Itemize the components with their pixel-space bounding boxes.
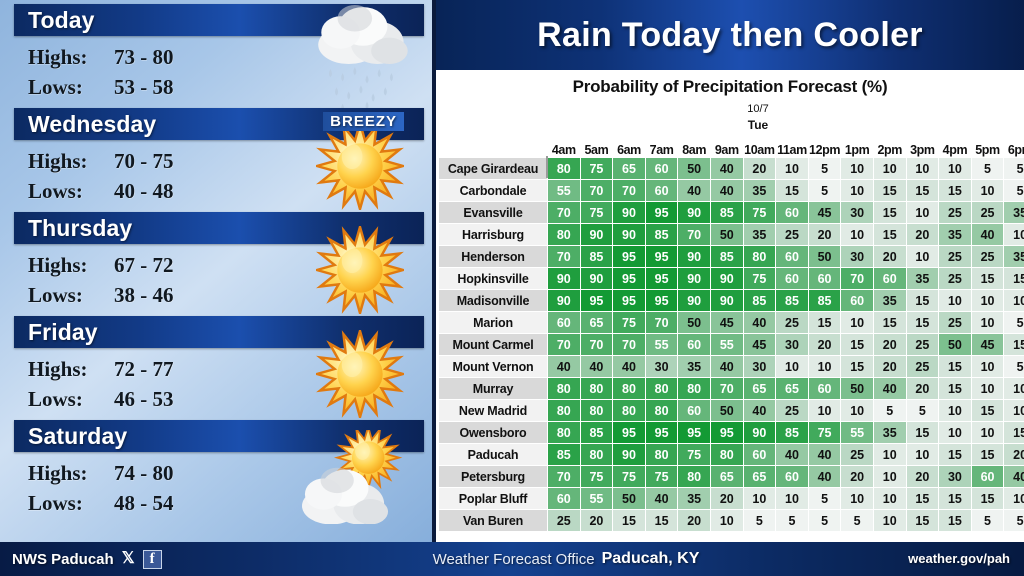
- pop-cell: 75: [808, 422, 841, 444]
- pop-cell: 50: [808, 246, 841, 268]
- lows-row: Lows:40 - 48: [28, 176, 428, 206]
- pop-cell: 10: [808, 400, 841, 422]
- weather-graphic: TodayHighs:73 - 80Lows:53 - 58WednesdayB…: [0, 0, 1024, 576]
- pop-cell: 15: [841, 356, 874, 378]
- pop-cell: 95: [613, 268, 646, 290]
- hour-header-9am: 9am: [710, 136, 743, 158]
- highs-label: Highs:: [28, 458, 114, 488]
- pop-cell: 90: [678, 268, 711, 290]
- pop-cell: 50: [710, 400, 743, 422]
- table-row: Harrisburg809090857050352520101520354010: [439, 224, 1024, 246]
- city-name-cell: Carbondale: [439, 180, 548, 202]
- pop-cell: 15: [906, 510, 939, 532]
- headline-bar: Rain Today then Cooler: [436, 0, 1024, 70]
- pop-cell: 40: [678, 180, 711, 202]
- forecast-day-friday: FridayHighs:72 - 77Lows:46 - 53: [8, 316, 428, 420]
- city-name-cell: Poplar Bluff: [439, 488, 548, 510]
- pop-cell: 10: [808, 356, 841, 378]
- pop-cell: 50: [710, 224, 743, 246]
- pop-cell: 30: [645, 356, 678, 378]
- pop-cell: 55: [645, 334, 678, 356]
- temperature-block: Highs:70 - 75Lows:40 - 48: [8, 140, 428, 206]
- day-name-label: Thursday: [14, 215, 132, 242]
- pop-cell: 70: [580, 334, 613, 356]
- pop-cell: 25: [548, 510, 581, 532]
- pop-cell: 80: [580, 400, 613, 422]
- pop-cell: 60: [841, 290, 874, 312]
- pop-cell: 10: [873, 466, 906, 488]
- city-name-cell: Madisonville: [439, 290, 548, 312]
- pop-table-wrap: Probability of Precipitation Forecast (%…: [436, 70, 1024, 542]
- pop-cell: 10: [1004, 378, 1024, 400]
- pop-cell: 75: [743, 202, 776, 224]
- table-row: Murray808080808070656560504020151010: [439, 378, 1024, 400]
- city-name-cell: Owensboro: [439, 422, 548, 444]
- pop-cell: 15: [873, 312, 906, 334]
- pop-cell: 15: [971, 488, 1004, 510]
- pop-cell: 5: [808, 158, 841, 180]
- table-row: Van Buren252015152010555510151555: [439, 510, 1024, 532]
- table-row: Mount Vernon4040403035403010101520251510…: [439, 356, 1024, 378]
- pop-cell: 90: [613, 444, 646, 466]
- pop-cell: 10: [776, 356, 809, 378]
- pop-cell: 80: [580, 378, 613, 400]
- pop-cell: 25: [776, 224, 809, 246]
- pop-cell: 75: [613, 312, 646, 334]
- table-row: Petersburg707575758065656040201020306040: [439, 466, 1024, 488]
- city-name-cell: Paducah: [439, 444, 548, 466]
- pop-cell: 70: [548, 466, 581, 488]
- pop-cell: 80: [548, 378, 581, 400]
- pop-cell: 50: [678, 158, 711, 180]
- pop-cell: 90: [580, 268, 613, 290]
- pop-cell: 15: [906, 312, 939, 334]
- pop-cell: 60: [645, 158, 678, 180]
- pop-cell: 5: [808, 180, 841, 202]
- pop-cell: 60: [808, 378, 841, 400]
- pop-cell: 15: [1004, 422, 1024, 444]
- highs-row: Highs:73 - 80: [28, 42, 428, 72]
- pop-cell: 95: [678, 422, 711, 444]
- pop-cell: 70: [613, 180, 646, 202]
- pop-cell: 70: [548, 246, 581, 268]
- pop-cell: 25: [939, 268, 972, 290]
- pop-cell: 50: [841, 378, 874, 400]
- pop-cell: 5: [1004, 510, 1024, 532]
- pop-cell: 65: [613, 158, 646, 180]
- highs-label: Highs:: [28, 250, 114, 280]
- pop-cell: 10: [939, 422, 972, 444]
- pop-cell: 25: [971, 202, 1004, 224]
- pop-cell: 50: [678, 312, 711, 334]
- lows-value: 53 - 58: [114, 72, 174, 102]
- day-name-bar: Thursday: [14, 212, 424, 244]
- pop-cell: 35: [873, 290, 906, 312]
- pop-cell: 40: [808, 444, 841, 466]
- pop-table-body: Cape Girardeau80756560504020105101010105…: [439, 158, 1024, 532]
- pop-cell: 25: [776, 312, 809, 334]
- pop-cell: 80: [613, 378, 646, 400]
- pop-cell: 35: [906, 268, 939, 290]
- pop-cell: 95: [645, 422, 678, 444]
- pop-cell: 10: [743, 488, 776, 510]
- day-name-label: Saturday: [14, 423, 127, 450]
- pop-cell: 20: [580, 510, 613, 532]
- hour-header-4am: 4am: [548, 136, 581, 158]
- pop-cell: 10: [939, 158, 972, 180]
- pop-cell: 20: [841, 466, 874, 488]
- city-name-cell: New Madrid: [439, 400, 548, 422]
- pop-cell: 5: [1004, 180, 1024, 202]
- day-name-label: Wednesday: [14, 111, 156, 138]
- pop-cell: 35: [873, 422, 906, 444]
- pop-cell: 90: [743, 422, 776, 444]
- pop-cell: 10: [873, 158, 906, 180]
- table-row: Marion60657570504540251510151525105: [439, 312, 1024, 334]
- pop-cell: 10: [841, 180, 874, 202]
- pop-cell: 60: [645, 180, 678, 202]
- pop-cell: 10: [971, 422, 1004, 444]
- table-row: Poplar Bluff6055504035201010510101515151…: [439, 488, 1024, 510]
- pop-cell: 45: [971, 334, 1004, 356]
- pop-cell: 10: [906, 202, 939, 224]
- forecast-day-today: TodayHighs:73 - 80Lows:53 - 58: [8, 4, 428, 108]
- pop-cell: 55: [710, 334, 743, 356]
- pop-cell: 50: [613, 488, 646, 510]
- pop-cell: 25: [841, 444, 874, 466]
- pop-cell: 10: [710, 510, 743, 532]
- footer-website[interactable]: weather.gov/pah: [908, 551, 1010, 566]
- pop-cell: 15: [939, 510, 972, 532]
- pop-cell: 5: [808, 510, 841, 532]
- pop-cell: 70: [548, 334, 581, 356]
- pop-cell: 10: [971, 290, 1004, 312]
- pop-cell: 80: [678, 378, 711, 400]
- pop-cell: 5: [743, 510, 776, 532]
- table-row: Owensboro808595959595908575553515101015: [439, 422, 1024, 444]
- pop-cell: 45: [710, 312, 743, 334]
- pop-cell: 90: [613, 224, 646, 246]
- city-name-cell: Hopkinsville: [439, 268, 548, 290]
- pop-cell: 55: [548, 180, 581, 202]
- city-name-cell: Murray: [439, 378, 548, 400]
- pop-cell: 35: [743, 224, 776, 246]
- hour-header-5pm: 5pm: [971, 136, 1004, 158]
- city-name-cell: Harrisburg: [439, 224, 548, 246]
- temperature-block: Highs:72 - 77Lows:46 - 53: [8, 348, 428, 414]
- pop-cell: 40: [873, 378, 906, 400]
- pop-cell: 75: [645, 466, 678, 488]
- footer-location: Paducah, KY: [602, 550, 700, 568]
- lows-value: 40 - 48: [114, 176, 174, 206]
- day-name-label: Friday: [14, 319, 98, 346]
- day-name-bar: Saturday: [14, 420, 424, 452]
- pop-cell: 10: [971, 312, 1004, 334]
- pop-cell: 5: [971, 510, 1004, 532]
- pop-cell: 80: [613, 400, 646, 422]
- pop-cell: 65: [743, 466, 776, 488]
- hour-header-12pm: 12pm: [808, 136, 841, 158]
- pop-cell: 15: [808, 312, 841, 334]
- pop-cell: 70: [645, 312, 678, 334]
- pop-cell: 70: [580, 180, 613, 202]
- pop-cell: 60: [776, 202, 809, 224]
- pop-cell: 60: [743, 444, 776, 466]
- pop-cell: 10: [1004, 400, 1024, 422]
- pop-cell: 10: [841, 312, 874, 334]
- day-name-label: Today: [14, 7, 95, 34]
- lows-label: Lows:: [28, 176, 114, 206]
- table-row: Mount Carmel7070705560554530201520255045…: [439, 334, 1024, 356]
- pop-cell: 35: [678, 356, 711, 378]
- city-name-cell: Cape Girardeau: [439, 158, 548, 180]
- pop-cell: 90: [678, 246, 711, 268]
- highs-value: 74 - 80: [114, 458, 174, 488]
- pop-cell: 85: [580, 422, 613, 444]
- pop-cell: 5: [776, 510, 809, 532]
- footer-center: Weather Forecast Office Paducah, KY: [342, 550, 790, 568]
- pop-cell: 85: [808, 290, 841, 312]
- pop-cell: 95: [710, 422, 743, 444]
- pop-cell: 85: [580, 246, 613, 268]
- highs-value: 72 - 77: [114, 354, 174, 384]
- hour-header-10am: 10am: [743, 136, 776, 158]
- highs-row: Highs:74 - 80: [28, 458, 428, 488]
- pop-cell: 15: [939, 444, 972, 466]
- pop-header-row: 4am5am6am7am8am9am10am11am12pm1pm2pm3pm4…: [439, 136, 1024, 158]
- pop-cell: 40: [613, 356, 646, 378]
- lows-row: Lows:38 - 46: [28, 280, 428, 310]
- pop-cell: 20: [873, 246, 906, 268]
- city-name-cell: Petersburg: [439, 466, 548, 488]
- pop-cell: 40: [743, 312, 776, 334]
- pop-cell: 20: [873, 334, 906, 356]
- pop-cell: 35: [743, 180, 776, 202]
- pop-cell: 15: [971, 444, 1004, 466]
- forecast-day-thursday: ThursdayHighs:67 - 72Lows:38 - 46: [8, 212, 428, 316]
- hour-header-1pm: 1pm: [841, 136, 874, 158]
- breezy-badge: BREEZY: [323, 112, 404, 131]
- pop-cell: 10: [906, 444, 939, 466]
- pop-cell: 25: [939, 312, 972, 334]
- table-row: New Madrid8080808060504025101055101510: [439, 400, 1024, 422]
- pop-cell: 20: [710, 488, 743, 510]
- pop-cell: 5: [873, 400, 906, 422]
- lows-label: Lows:: [28, 72, 114, 102]
- pop-cell: 20: [808, 224, 841, 246]
- pop-cell: 5: [1004, 312, 1024, 334]
- table-row: Madisonville9095959590908585856035151010…: [439, 290, 1024, 312]
- pop-cell: 80: [548, 158, 581, 180]
- pop-cell: 85: [776, 422, 809, 444]
- pop-cell: 15: [873, 180, 906, 202]
- pop-cell: 90: [613, 202, 646, 224]
- pop-cell: 25: [939, 202, 972, 224]
- pop-cell: 15: [906, 290, 939, 312]
- pop-cell: 40: [808, 466, 841, 488]
- pop-cell: 90: [548, 290, 581, 312]
- footer-bar: NWS Paducah 𝕏 f Weather Forecast Office …: [0, 542, 1024, 576]
- pop-cell: 40: [710, 356, 743, 378]
- pop-cell: 85: [776, 290, 809, 312]
- city-name-cell: Marion: [439, 312, 548, 334]
- pop-cell: 10: [906, 246, 939, 268]
- lows-value: 48 - 54: [114, 488, 174, 518]
- highs-row: Highs:72 - 77: [28, 354, 428, 384]
- pop-cell: 15: [841, 334, 874, 356]
- pop-cell: 20: [678, 510, 711, 532]
- pop-cell: 85: [645, 224, 678, 246]
- pop-cell: 25: [939, 246, 972, 268]
- pop-cell: 45: [808, 202, 841, 224]
- pop-cell: 40: [710, 158, 743, 180]
- temperature-block: Highs:67 - 72Lows:38 - 46: [8, 244, 428, 310]
- pop-cell: 80: [548, 224, 581, 246]
- pop-cell: 95: [580, 290, 613, 312]
- pop-cell: 15: [939, 180, 972, 202]
- pop-cell: 15: [613, 510, 646, 532]
- hour-header-6am: 6am: [613, 136, 646, 158]
- pop-cell: 30: [841, 246, 874, 268]
- pop-cell: 35: [1004, 246, 1024, 268]
- pop-cell: 80: [710, 444, 743, 466]
- pop-cell: 85: [710, 246, 743, 268]
- pop-cell: 75: [613, 466, 646, 488]
- pop-cell: 15: [906, 180, 939, 202]
- pop-cell: 40: [645, 488, 678, 510]
- pop-cell: 10: [776, 158, 809, 180]
- table-row: Carbondale5570706040403515510151515105: [439, 180, 1024, 202]
- pop-cell: 10: [841, 488, 874, 510]
- header-rule: [546, 156, 548, 178]
- pop-cell: 20: [906, 466, 939, 488]
- forecast-day-list: TodayHighs:73 - 80Lows:53 - 58WednesdayB…: [8, 4, 428, 524]
- lows-row: Lows:53 - 58: [28, 72, 428, 102]
- pop-cell: 35: [678, 488, 711, 510]
- hour-header-6pm: 6pm: [1004, 136, 1024, 158]
- pop-cell: 10: [841, 400, 874, 422]
- forecast-day-wednesday: WednesdayBREEZYHighs:70 - 75Lows:40 - 48: [8, 108, 428, 212]
- pop-cell: 35: [1004, 202, 1024, 224]
- pop-cell: 80: [548, 400, 581, 422]
- highs-label: Highs:: [28, 354, 114, 384]
- pop-cell: 90: [678, 290, 711, 312]
- pop-cell: 10: [971, 180, 1004, 202]
- x-twitter-icon[interactable]: 𝕏: [122, 551, 135, 567]
- hour-header-4pm: 4pm: [939, 136, 972, 158]
- pop-cell: 10: [841, 158, 874, 180]
- pop-cell: 70: [613, 334, 646, 356]
- pop-cell: 10: [873, 488, 906, 510]
- facebook-icon[interactable]: f: [143, 550, 162, 569]
- pop-day-of-week: Tue: [492, 115, 1024, 132]
- temperature-block: Highs:73 - 80Lows:53 - 58: [8, 36, 428, 102]
- pop-cell: 80: [580, 444, 613, 466]
- hour-header-5am: 5am: [580, 136, 613, 158]
- pop-cell: 95: [613, 290, 646, 312]
- hour-header-8am: 8am: [678, 136, 711, 158]
- pop-cell: 60: [678, 334, 711, 356]
- headline-text: Rain Today then Cooler: [537, 16, 923, 55]
- pop-cell: 95: [613, 422, 646, 444]
- pop-cell: 40: [710, 180, 743, 202]
- table-row: Cape Girardeau80756560504020105101010105…: [439, 158, 1024, 180]
- pop-cell: 10: [971, 378, 1004, 400]
- highs-label: Highs:: [28, 42, 114, 72]
- city-name-cell: Mount Carmel: [439, 334, 548, 356]
- table-row: Evansville707590959085756045301510252535: [439, 202, 1024, 224]
- hour-header-11am: 11am: [776, 136, 809, 158]
- pop-cell: 15: [939, 488, 972, 510]
- pop-cell: 5: [1004, 356, 1024, 378]
- pop-cell: 15: [971, 268, 1004, 290]
- day-name-bar: Friday: [14, 316, 424, 348]
- pop-cell: 25: [906, 356, 939, 378]
- pop-cell: 5: [841, 510, 874, 532]
- lows-label: Lows:: [28, 280, 114, 310]
- pop-cell: 20: [1004, 444, 1024, 466]
- pop-cell: 95: [645, 202, 678, 224]
- pop-cell: 65: [776, 378, 809, 400]
- pop-cell: 60: [776, 268, 809, 290]
- pop-cell: 10: [776, 488, 809, 510]
- lows-value: 38 - 46: [114, 280, 174, 310]
- lows-value: 46 - 53: [114, 384, 174, 414]
- pop-cell: 70: [548, 202, 581, 224]
- highs-value: 73 - 80: [114, 42, 174, 72]
- pop-cell: 50: [939, 334, 972, 356]
- pop-cell: 85: [710, 202, 743, 224]
- lows-row: Lows:46 - 53: [28, 384, 428, 414]
- table-row: Henderson708595959085806050302010252535: [439, 246, 1024, 268]
- pop-cell: 10: [1004, 224, 1024, 246]
- highs-row: Highs:70 - 75: [28, 146, 428, 176]
- pop-cell: 90: [548, 268, 581, 290]
- pop-cell: 15: [645, 510, 678, 532]
- pop-cell: 15: [776, 180, 809, 202]
- pop-cell: 90: [710, 290, 743, 312]
- pop-cell: 5: [971, 158, 1004, 180]
- city-column-header: [439, 136, 548, 158]
- hour-header-3pm: 3pm: [906, 136, 939, 158]
- hour-header-7am: 7am: [645, 136, 678, 158]
- pop-cell: 5: [1004, 158, 1024, 180]
- pop-cell: 90: [678, 202, 711, 224]
- pop-cell: 70: [678, 224, 711, 246]
- pop-cell: 15: [906, 422, 939, 444]
- pop-cell: 60: [808, 268, 841, 290]
- pop-table: 4am5am6am7am8am9am10am11am12pm1pm2pm3pm4…: [438, 135, 1024, 532]
- footer-right: weather.gov/pah: [790, 550, 1024, 568]
- pop-cell: 10: [1004, 290, 1024, 312]
- pop-cell: 30: [841, 202, 874, 224]
- pop-cell: 15: [1004, 334, 1024, 356]
- table-row: Hopkinsville9090959590907560607060352515…: [439, 268, 1024, 290]
- pop-cell: 85: [743, 290, 776, 312]
- forecast-day-saturday: SaturdayHighs:74 - 80Lows:48 - 54: [8, 420, 428, 524]
- pop-cell: 80: [645, 400, 678, 422]
- pop-cell: 10: [971, 356, 1004, 378]
- pop-cell: 75: [580, 158, 613, 180]
- pop-table-head: 4am5am6am7am8am9am10am11am12pm1pm2pm3pm4…: [439, 136, 1024, 158]
- pop-cell: 15: [971, 400, 1004, 422]
- lows-row: Lows:48 - 54: [28, 488, 428, 518]
- pop-cell: 80: [645, 444, 678, 466]
- pop-cell: 5: [906, 400, 939, 422]
- pop-cell: 40: [580, 356, 613, 378]
- pop-cell: 15: [1004, 268, 1024, 290]
- pop-cell: 60: [971, 466, 1004, 488]
